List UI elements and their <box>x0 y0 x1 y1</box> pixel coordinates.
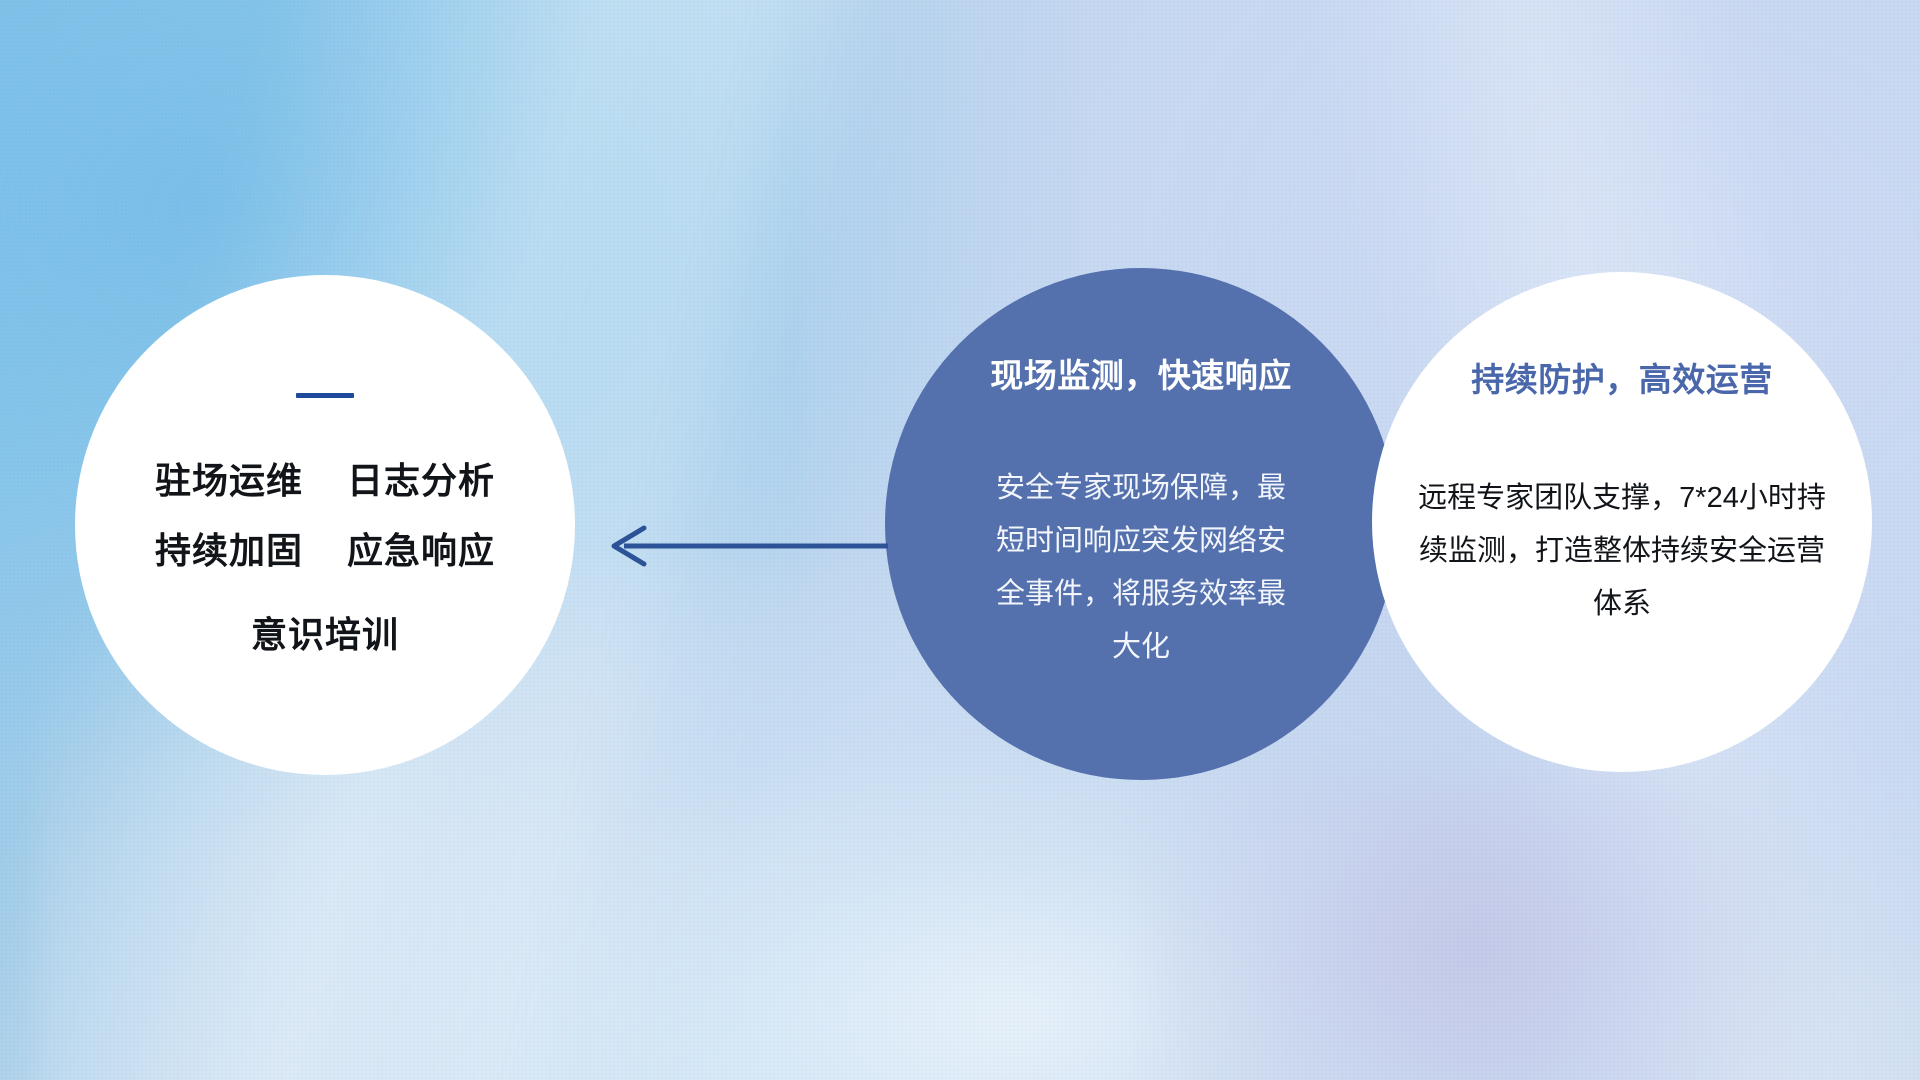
onsite-monitoring-circle[interactable]: 现场监测，快速响应 安全专家现场保障，最短时间响应突发网络安全事件，将服务效率最… <box>885 268 1397 780</box>
slide-canvas: 驻场运维 日志分析 持续加固 应急响应 意识培训 现场监测，快速响应 安全专家现… <box>0 0 1920 1080</box>
capability-keyword-line: 持续加固 应急响应 <box>155 516 495 586</box>
onsite-monitoring-body: 安全专家现场保障，最短时间响应突发网络安全事件，将服务效率最大化 <box>987 462 1295 674</box>
capability-keyword-line: 驻场运维 日志分析 <box>155 446 495 516</box>
left-pointing-arrow-icon <box>600 520 890 572</box>
capability-keyword-line: 意识培训 <box>155 600 495 670</box>
capability-keyword-list: 驻场运维 日志分析 持续加固 应急响应 意识培训 <box>155 446 495 670</box>
dash-divider-icon <box>296 393 354 398</box>
capabilities-circle[interactable]: 驻场运维 日志分析 持续加固 应急响应 意识培训 <box>75 275 575 775</box>
continuous-protection-circle[interactable]: 持续防护，高效运营 远程专家团队支撑，7*24小时持续监测，打造整体持续安全运营… <box>1372 272 1872 772</box>
onsite-monitoring-title: 现场监测，快速响应 <box>990 356 1292 396</box>
continuous-protection-title: 持续防护，高效运营 <box>1471 360 1773 400</box>
continuous-protection-body: 远程专家团队支撑，7*24小时持续监测，打造整体持续安全运营体系 <box>1416 472 1828 631</box>
